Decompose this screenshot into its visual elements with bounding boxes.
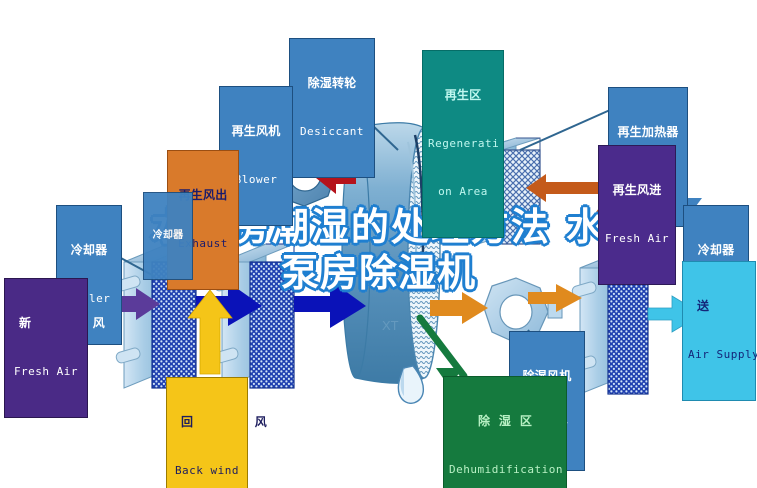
label-regen-blower-cn: 再生风机 xyxy=(225,125,287,138)
svg-text:XT: XT xyxy=(382,318,399,333)
label-cooler-mid-tag: 冷却器 xyxy=(143,192,193,280)
label-regeneration-area-en2: on Area xyxy=(428,186,498,198)
label-regeneration-area-cn: 再生区 xyxy=(428,89,498,102)
label-regen-fresh-air: 再生风进 Fresh Air xyxy=(598,145,676,285)
label-cooler-mid-tag-cn: 冷却器 xyxy=(148,230,188,241)
label-desiccant-wheel-en: Desiccant xyxy=(295,126,369,138)
label-air-supply-cn: 送 风 xyxy=(688,300,750,313)
label-cooler-right-cn: 冷却器 xyxy=(689,244,743,257)
label-air-supply: 送 风 Air Supply xyxy=(682,261,756,401)
label-back-wind-cn: 回 风 xyxy=(172,416,242,429)
label-regeneration-area-en: Regenerati xyxy=(428,138,498,150)
label-dehum-district-cn: 除 湿 区 xyxy=(449,415,561,428)
label-regen-fresh-air-en: Fresh Air xyxy=(604,233,670,245)
label-regen-fresh-air-cn: 再生风进 xyxy=(604,184,670,197)
label-dehum-district-en: Dehumidification xyxy=(449,464,561,476)
label-fresh-air-in-cn: 新 风 xyxy=(10,317,82,330)
label-back-wind-en: Back wind xyxy=(172,465,242,477)
diagram-canvas: XT xyxy=(0,0,757,488)
label-fresh-air-in: 新 风 Fresh Air xyxy=(4,278,88,418)
label-dehum-district: 除 湿 区 Dehumidification District xyxy=(443,376,567,488)
label-desiccant-wheel-cn: 除湿转轮 xyxy=(295,77,369,90)
label-regen-heater-cn: 再生加热器 xyxy=(614,126,682,139)
label-desiccant-wheel: 除湿转轮 Desiccant xyxy=(289,38,375,178)
label-regeneration-area: 再生区 Regenerati on Area xyxy=(422,50,504,238)
label-air-supply-en: Air Supply xyxy=(688,349,750,361)
label-back-wind: 回 风 Back wind xyxy=(166,377,248,488)
label-cooler-left-cn: 冷却器 xyxy=(62,244,116,257)
label-fresh-air-in-en: Fresh Air xyxy=(10,366,82,378)
